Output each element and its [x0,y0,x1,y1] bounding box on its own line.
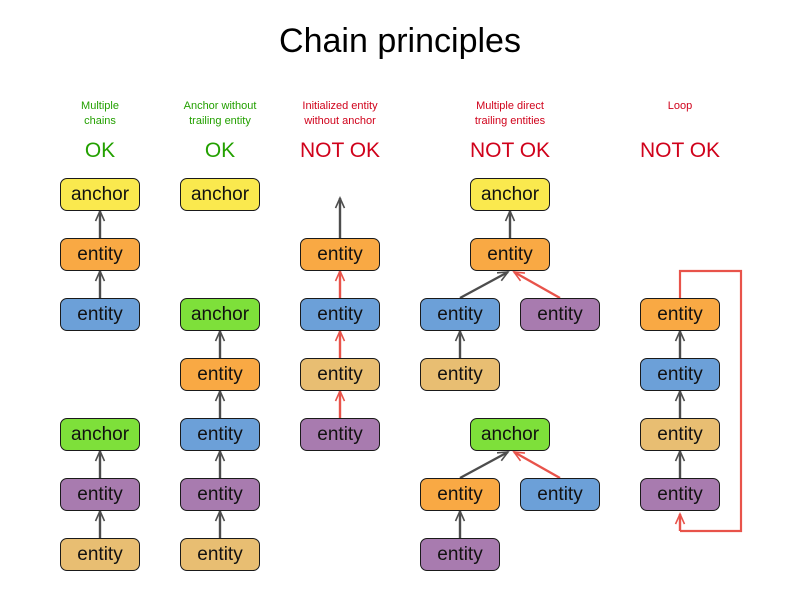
caption-line: trailing entities [430,114,590,129]
page-title: Chain principles [0,22,800,61]
node-entity[interactable]: entity [60,538,140,571]
node-entity[interactable]: entity [420,538,500,571]
edge-arrowhead [336,331,345,341]
verdict-initialized-entity-without-anchor: NOT OK [260,139,420,163]
caption-line: Loop [600,99,760,114]
node-label: anchor [71,424,129,446]
node-label: entity [537,484,582,506]
node-entity[interactable]: entity [300,298,380,331]
node-label: entity [77,244,122,266]
edge-line [514,272,560,298]
edge-line [460,452,508,478]
node-entity[interactable]: entity [180,358,260,391]
edge-arrowhead [96,271,105,281]
edge-arrowhead [676,514,685,524]
node-entity[interactable]: entity [180,478,260,511]
node-entity[interactable]: entity [420,298,500,331]
edge-arrowhead [336,391,345,401]
node-entity[interactable]: entity [180,538,260,571]
node-label: entity [197,364,242,386]
edge-arrowhead [216,391,225,401]
node-entity[interactable]: entity [60,478,140,511]
edge-arrowhead [514,272,525,281]
node-anchor[interactable]: anchor [180,298,260,331]
node-entity[interactable]: entity [60,298,140,331]
node-entity[interactable]: entity [640,478,720,511]
node-entity[interactable]: entity [420,478,500,511]
node-entity[interactable]: entity [60,238,140,271]
node-anchor[interactable]: anchor [60,178,140,211]
edge-arrowhead [336,198,345,208]
node-entity[interactable]: entity [520,298,600,331]
node-label: entity [537,304,582,326]
edge-arrowhead [216,451,225,461]
node-label: entity [657,304,702,326]
node-label: entity [317,424,362,446]
edge-line [514,452,560,478]
edge-arrowhead [497,452,508,461]
node-entity[interactable]: entity [520,478,600,511]
node-label: entity [317,364,362,386]
edge-arrowhead [96,511,105,521]
edge-arrowhead [676,451,685,461]
node-entity[interactable]: entity [470,238,550,271]
node-anchor[interactable]: anchor [180,178,260,211]
column-caption-multiple-direct-trailing-entities: Multiple direct trailing entities [430,99,590,129]
column-caption-loop: Loop [600,99,760,114]
edge-arrowhead [497,272,508,281]
edge-arrowhead [514,452,525,461]
node-entity[interactable]: entity [640,298,720,331]
node-label: anchor [481,424,539,446]
node-label: anchor [191,184,249,206]
node-label: entity [437,364,482,386]
node-entity[interactable]: entity [180,418,260,451]
node-label: entity [197,484,242,506]
node-label: entity [317,244,362,266]
edge-line [460,272,508,298]
node-label: entity [657,364,702,386]
node-entity[interactable]: entity [640,358,720,391]
edge-arrowhead [456,511,465,521]
node-label: entity [437,304,482,326]
edge-arrowhead [96,211,105,221]
node-label: entity [77,484,122,506]
node-anchor[interactable]: anchor [470,178,550,211]
edge-arrowhead [676,331,685,341]
node-label: anchor [191,304,249,326]
node-entity[interactable]: entity [640,418,720,451]
edge-arrowhead [96,451,105,461]
node-entity[interactable]: entity [420,358,500,391]
edge-arrowhead [676,391,685,401]
edge-arrowhead [216,331,225,341]
node-label: entity [657,484,702,506]
verdict-loop: NOT OK [600,139,760,163]
caption-line: Multiple direct [430,99,590,114]
edge-arrowhead [506,211,515,221]
edge-arrowhead [216,511,225,521]
node-anchor[interactable]: anchor [60,418,140,451]
node-label: anchor [71,184,129,206]
column-caption-initialized-entity-without-anchor: Initialized entity without anchor [260,99,420,129]
caption-line: without anchor [260,114,420,129]
node-label: entity [77,304,122,326]
node-label: entity [437,544,482,566]
node-label: entity [437,484,482,506]
node-label: entity [197,544,242,566]
node-label: entity [487,244,532,266]
node-label: entity [197,424,242,446]
node-label: entity [77,544,122,566]
node-label: anchor [481,184,539,206]
node-entity[interactable]: entity [300,358,380,391]
node-label: entity [657,424,702,446]
diagram-canvas: Chain principles Multiple chains OK Anch… [0,0,800,600]
node-anchor[interactable]: anchor [470,418,550,451]
node-label: entity [317,304,362,326]
edge-arrowhead [456,331,465,341]
edge-arrowhead [336,271,345,281]
node-entity[interactable]: entity [300,418,380,451]
verdict-multiple-direct-trailing-entities: NOT OK [430,139,590,163]
node-entity[interactable]: entity [300,238,380,271]
caption-line: Initialized entity [260,99,420,114]
